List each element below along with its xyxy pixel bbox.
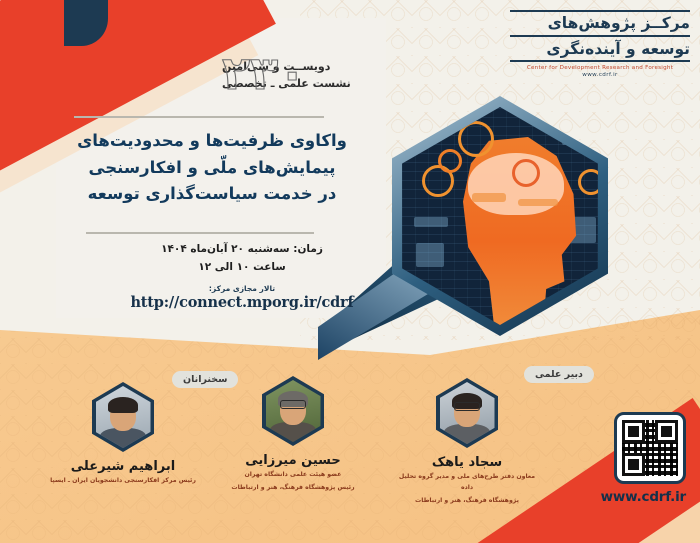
logo-line-2: توسعه و آینده‌نگری [510,40,690,59]
avatar [262,376,324,446]
logo-line-1: مرکــز پژوهش‌های [510,15,690,33]
logo-url: www.cdrf.ir [510,72,690,78]
person-name: حسین میرزایی [218,453,368,468]
meeting-link[interactable]: http://connect.mporg.ir/cdrf [124,294,360,311]
gear-icon [512,159,540,187]
qr-section: www.cdrf.ir [601,412,686,505]
avatar [92,382,154,452]
brain-technology-illustration [392,96,608,336]
avatar [436,378,498,448]
chip-shape [416,243,444,267]
person-card: سجاد یاهک معاون دفتر طرح‌های ملی و مدیر … [392,378,542,507]
session-number: ۲۳۰ [222,46,306,100]
person-role-line-2: رئیس پژوهشگاه فرهنگ، هنر و ارتباطات [218,483,368,494]
qr-finder-icon [622,453,645,476]
header-divider [74,116,324,118]
person-role-line-1: عضو هیئت علمی دانشگاه تهران [218,470,368,481]
logo-rule-top [510,10,690,12]
event-time: ساعت ۱۰ الی ۱۲ [124,258,360,276]
title-line-1: واکاوی ظرفیت‌ها و محدودیت‌های [76,128,348,155]
title-line-3: در خدمت سیاست‌گذاری توسعه [76,181,348,208]
title-line-2: پیمایش‌های ملّی و افکارسنجی [76,155,348,182]
qr-finder-icon [622,420,645,443]
footer-website[interactable]: www.cdrf.ir [601,489,686,505]
person-name: ابراهیم شیرعلی [48,459,198,474]
person-name: سجاد یاهک [392,455,542,470]
person-role-line-2: پژوهشگاه فرهنگ، هنر و ارتباطات [392,496,542,507]
person-role-line-1: رئیس مرکز افکارسنجی دانشجویان ایران ـ ای… [48,476,198,487]
event-poster: مرکــز پژوهش‌های توسعه و آینده‌نگری Cent… [0,0,700,543]
event-details: زمان: سه‌شنبه ۲۰ آبان‌ماه ۱۴۰۴ ساعت ۱۰ ا… [124,240,360,311]
gear-icon [578,169,598,195]
logo-rule-bottom [510,60,690,62]
chip-shape [414,217,448,227]
data-bar [518,199,558,206]
person-role-line-1: معاون دفتر طرح‌های ملی و مدیر گروه تحلیل… [392,472,542,494]
event-date: زمان: سه‌شنبه ۲۰ آبان‌ماه ۱۴۰۴ [124,240,360,258]
logo-rule-mid [510,35,690,37]
logo-english-name: Center for Development Research and Fore… [510,65,690,71]
qr-code[interactable] [614,412,686,484]
qr-finder-icon [655,420,678,443]
person-card: حسین میرزایی عضو هیئت علمی دانشگاه تهران… [218,376,368,494]
organization-logo: مرکــز پژوهش‌های توسعه و آینده‌نگری Cent… [510,8,690,78]
data-bar [472,193,506,202]
virtual-hall-label: تالار مجازی مرکز: [124,284,360,293]
person-card: ابراهیم شیرعلی رئیس مرکز افکارسنجی دانشج… [48,382,198,489]
page-title: واکاوی ظرفیت‌ها و محدودیت‌های پیمایش‌های… [76,128,348,208]
gear-icon [438,149,462,173]
title-divider [86,232,314,234]
